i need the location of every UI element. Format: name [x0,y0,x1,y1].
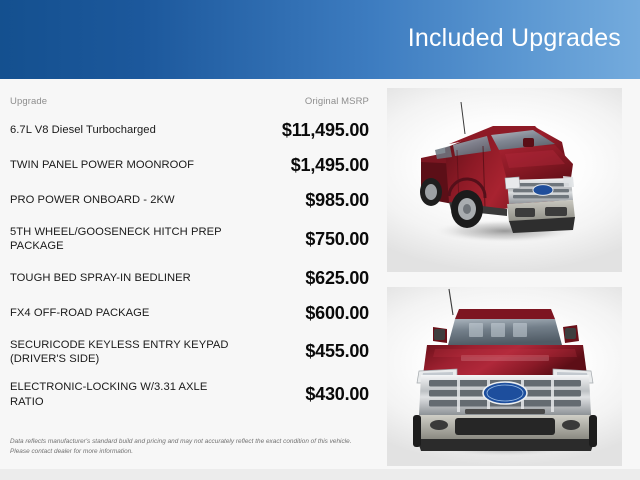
upgrade-price: $455.00 [238,331,372,374]
page-title: Included Upgrades [408,26,621,53]
vehicle-photo-gallery [387,88,622,466]
table-header-row: Upgrade Original MSRP [10,79,372,113]
upgrade-price: $750.00 [238,218,372,261]
upgrades-table-body: 6.7L V8 Diesel Turbocharged $11,495.00 T… [10,113,372,416]
table-row: FX4 OFF-ROAD PACKAGE $600.00 [10,296,372,331]
content-area: Upgrade Original MSRP 6.7L V8 Diesel Tur… [0,79,640,469]
upgrade-price: $1,495.00 [238,148,372,183]
table-row: TWIN PANEL POWER MOONROOF $1,495.00 [10,148,372,183]
truck-three-quarter-illustration [387,88,622,272]
upgrade-price: $11,495.00 [238,113,372,148]
header-banner: Included Upgrades [0,0,640,79]
vehicle-photo-front[interactable] [387,287,622,466]
table-row: TOUGH BED SPRAY-IN BEDLINER $625.00 [10,261,372,296]
table-row: SECURICODE KEYLESS ENTRY KEYPAD (DRIVER'… [10,331,372,374]
column-header-upgrade: Upgrade [10,79,238,113]
table-row: PRO POWER ONBOARD - 2KW $985.00 [10,183,372,218]
column-header-msrp: Original MSRP [238,79,372,113]
table-row: ELECTRONIC-LOCKING W/3.31 AXLE RATIO $43… [10,373,372,416]
upgrade-name: TOUGH BED SPRAY-IN BEDLINER [10,261,238,296]
upgrade-name: SECURICODE KEYLESS ENTRY KEYPAD (DRIVER'… [10,331,238,374]
disclaimer-text: Data reflects manufacturer's standard bu… [10,437,370,457]
upgrades-slide: Included Upgrades Upgrade Original MSRP [0,0,640,480]
upgrade-name: 6.7L V8 Diesel Turbocharged [10,113,238,148]
table-row: 5TH WHEEL/GOOSENECK HITCH PREP PACKAGE $… [10,218,372,261]
upgrade-price: $625.00 [238,261,372,296]
truck-front-illustration [387,287,622,466]
upgrade-name: TWIN PANEL POWER MOONROOF [10,148,238,183]
upgrade-price: $430.00 [238,373,372,416]
upgrade-price: $600.00 [238,296,372,331]
upgrades-table: Upgrade Original MSRP 6.7L V8 Diesel Tur… [10,79,372,416]
upgrade-name: 5TH WHEEL/GOOSENECK HITCH PREP PACKAGE [10,218,238,261]
upgrades-panel: Upgrade Original MSRP 6.7L V8 Diesel Tur… [0,79,382,469]
table-row: 6.7L V8 Diesel Turbocharged $11,495.00 [10,113,372,148]
upgrade-price: $985.00 [238,183,372,218]
upgrade-name: ELECTRONIC-LOCKING W/3.31 AXLE RATIO [10,373,238,416]
bottom-edge-strip [0,469,640,480]
upgrade-name: PRO POWER ONBOARD - 2KW [10,183,238,218]
upgrade-name: FX4 OFF-ROAD PACKAGE [10,296,238,331]
vehicle-photo-front-three-quarter[interactable] [387,88,622,272]
